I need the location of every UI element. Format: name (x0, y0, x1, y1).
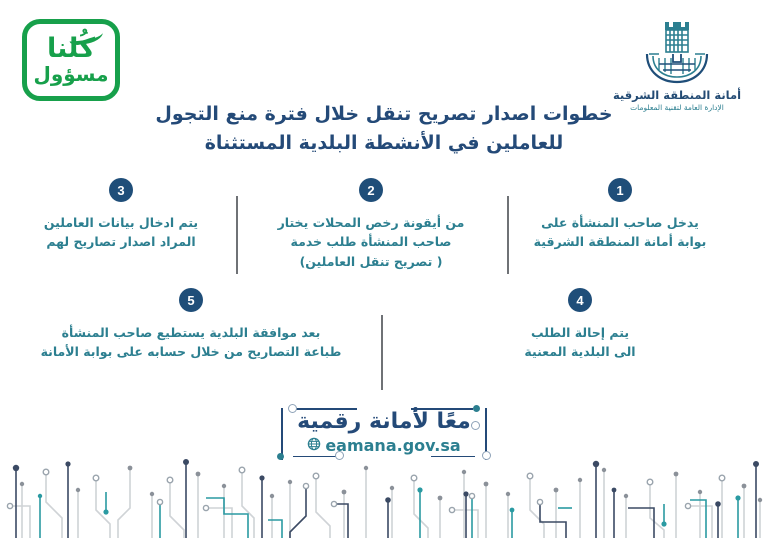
step-2-text: من أيقونة رخص المحلات يختار صاحب المنشأة… (256, 213, 486, 271)
step-3-text: يتم ادخال بيانات العاملين المراد اصدار ت… (16, 213, 226, 252)
step-2-line-3: ( تصريح تنقل العاملين) (256, 252, 486, 271)
bracket-top-left-horizontal (295, 408, 357, 410)
step-1-line-2: بوابة أمانة المنطقة الشرقية (495, 232, 745, 251)
step-4-number: 4 (568, 288, 592, 312)
bracket-dot-mid-right (471, 421, 480, 430)
divider-step3-step2 (236, 196, 238, 274)
step-5-line-1: بعد موافقة البلدية يستطيع صاحب المنشأة (26, 323, 356, 342)
step-5-text: بعد موافقة البلدية يستطيع صاحب المنشأة ط… (26, 323, 356, 362)
step-3: 3 يتم ادخال بيانات العاملين المراد اصدار… (16, 178, 226, 252)
page-title: خطوات اصدار تصريح تنقل خلال فترة منع الت… (0, 100, 768, 159)
bracket-top-right-horizontal (411, 408, 473, 410)
step-2-line-1: من أيقونة رخص المحلات يختار (256, 213, 486, 232)
step-3-line-1: يتم ادخال بيانات العاملين (16, 213, 226, 232)
step-1-line-1: يدخل صاحب المنشأة على (495, 213, 745, 232)
step-3-number: 3 (109, 178, 133, 202)
step-4-line-1: يتم إحالة الطلب (470, 323, 690, 342)
bracket-dot-top-right (473, 405, 480, 412)
step-1: 1 يدخل صاحب المنشأة على بوابة أمانة المن… (495, 178, 745, 252)
logo-swoosh-icon (68, 26, 104, 46)
kullona-masoul-line2: مسؤول (33, 64, 108, 85)
circuit-board-pattern (0, 450, 768, 538)
step-5-number: 5 (179, 288, 203, 312)
step-5-line-2: طباعة التصاريح من خلال حسابه على بوابة ا… (26, 342, 356, 361)
step-1-text: يدخل صاحب المنشأة على بوابة أمانة المنطق… (495, 213, 745, 252)
step-2-line-2: صاحب المنشأة طلب خدمة (256, 232, 486, 251)
divider-step5-step4 (381, 315, 383, 390)
step-2: 2 من أيقونة رخص المحلات يختار صاحب المنش… (256, 178, 486, 271)
municipality-emblem-icon (602, 14, 752, 86)
municipality-logo: أمانة المنطقة الشرقية الإدارة العامة لتق… (602, 14, 752, 112)
bracket-dot-top-left (288, 404, 297, 413)
step-1-number: 1 (608, 178, 632, 202)
step-3-line-2: المراد اصدار تصاريح لهم (16, 232, 226, 251)
step-5: 5 بعد موافقة البلدية يستطيع صاحب المنشأة… (26, 288, 356, 362)
title-line-1: خطوات اصدار تصريح تنقل خلال فترة منع الت… (0, 100, 768, 129)
step-2-number: 2 (359, 178, 383, 202)
step-4-line-2: الى البلدية المعنية (470, 342, 690, 361)
kullona-masoul-logo: كُلنا مسؤول (22, 19, 120, 101)
footer-slogan: معًا لأمانة رقمية (297, 410, 471, 434)
title-line-2: للعاملين في الأنشطة البلدية المستثناة (0, 129, 768, 158)
step-4: 4 يتم إحالة الطلب الى البلدية المعنية (470, 288, 690, 362)
step-4-text: يتم إحالة الطلب الى البلدية المعنية (470, 323, 690, 362)
infographic-canvas: كُلنا مسؤول (0, 0, 768, 538)
